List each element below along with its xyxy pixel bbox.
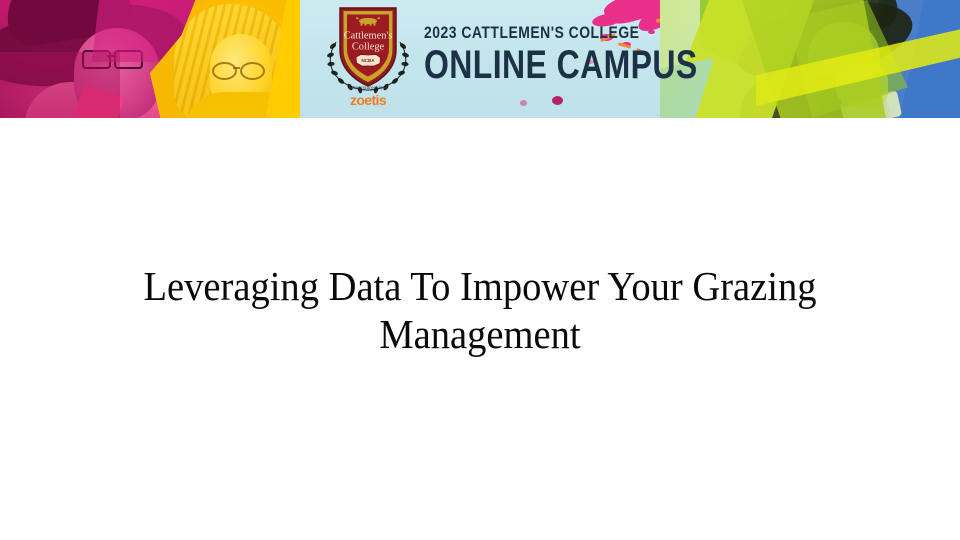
banner-event-year-line: 2023 CATTLEMEN'S COLLEGE: [424, 24, 768, 41]
svg-text:NCBA: NCBA: [361, 58, 375, 63]
sponsor-lockup: Sponsored by zoetis: [318, 86, 418, 107]
shield-crest-icon: Cattlemen's College NCBA: [318, 2, 418, 94]
paint-splatter-shape: [520, 100, 527, 106]
sponsored-by-label: Sponsored by: [318, 86, 418, 91]
svg-text:Cattlemen's: Cattlemen's: [344, 31, 393, 42]
banner-headline: 2023 CATTLEMEN'S COLLEGE ONLINE CAMPUS: [424, 24, 844, 85]
banner-event-name-line: ONLINE CAMPUS: [424, 45, 760, 85]
zoetis-logo-wordmark: zoetis: [318, 93, 418, 107]
paint-splatter-shape: [552, 96, 563, 105]
svg-text:College: College: [352, 42, 385, 53]
magenta-color-plate-2: [0, 52, 120, 118]
eyeglasses-icon: [212, 62, 268, 77]
slide-title: Leveraging Data To Impower Your Grazing …: [68, 262, 892, 359]
cattlemens-college-logo: Cattlemen's College NCBA Sponsored by zo…: [318, 2, 418, 116]
slide-title-line-1: Leveraging Data To Impower Your Grazing: [93, 262, 868, 310]
event-banner: Cattlemen's College NCBA Sponsored by zo…: [0, 0, 960, 118]
slide-title-line-2: Management: [93, 310, 868, 358]
presentation-slide: Cattlemen's College NCBA Sponsored by zo…: [0, 0, 960, 540]
